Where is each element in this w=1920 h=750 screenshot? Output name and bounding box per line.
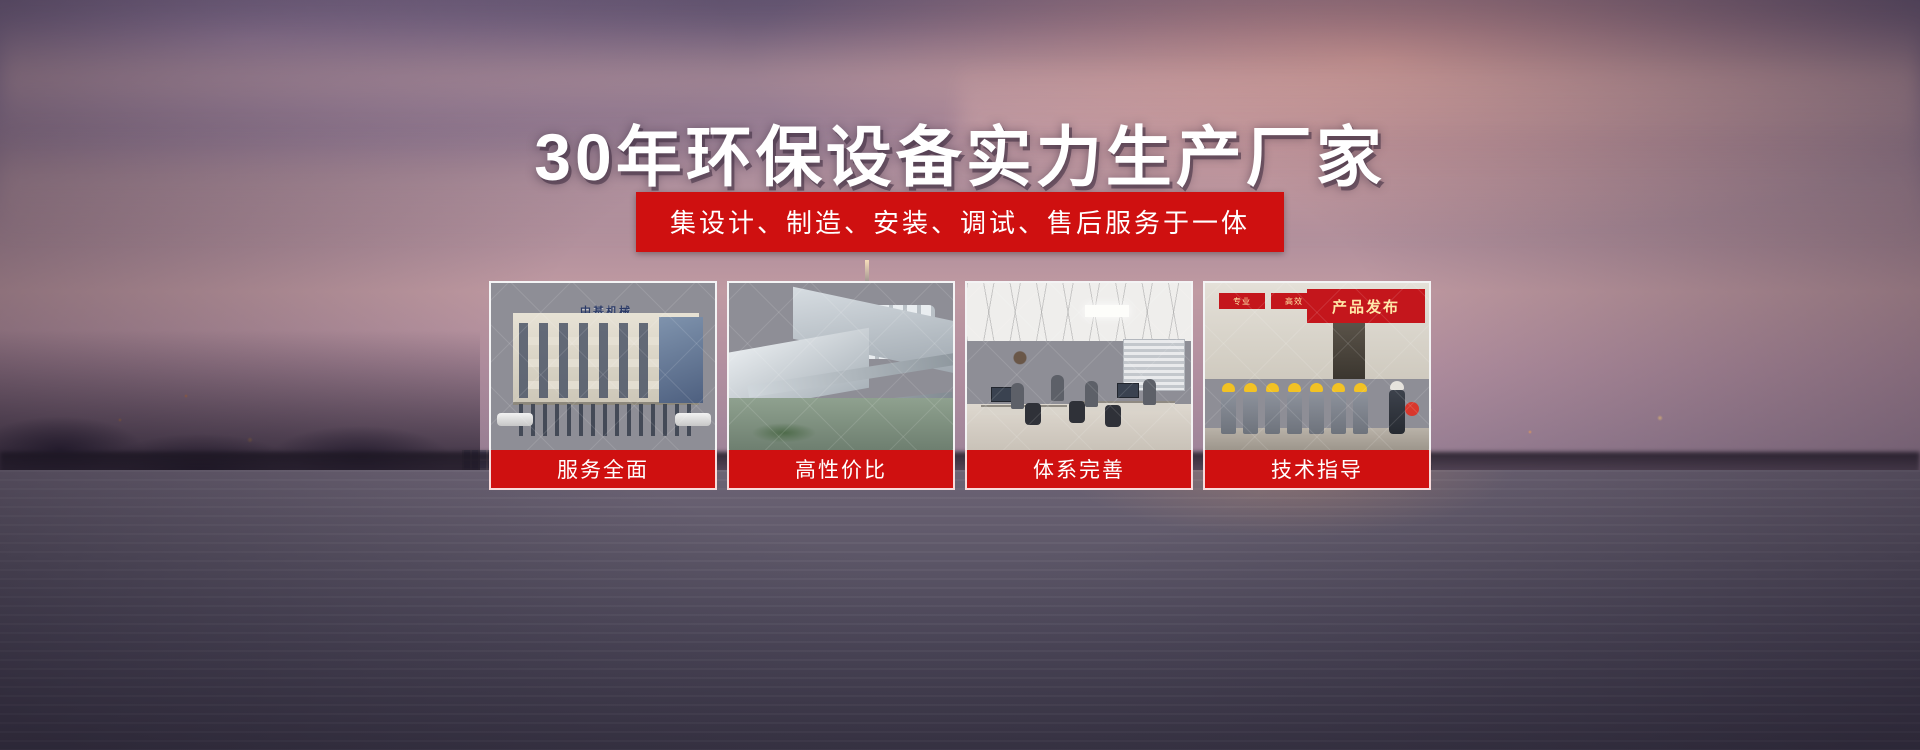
office-desk xyxy=(981,405,1067,415)
page-title: 30年环保设备实力生产厂家 xyxy=(0,104,1920,200)
equipment-reel xyxy=(1405,402,1419,416)
card-caption: 服务全面 xyxy=(489,450,717,490)
feature-card[interactable]: 专业 高效 产品发布 技术指导 xyxy=(1203,281,1431,490)
office-chair xyxy=(1105,405,1121,427)
feature-card[interactable]: 高性价比 xyxy=(727,281,955,490)
vegetation xyxy=(739,416,829,444)
worker-hardhat xyxy=(1221,392,1236,434)
card-caption: 体系完善 xyxy=(965,450,1193,490)
office-worker xyxy=(1011,383,1024,409)
wall-decal xyxy=(1005,349,1035,371)
office-worker xyxy=(1051,375,1064,401)
worker-hardhat xyxy=(1287,392,1302,434)
card-caption: 技术指导 xyxy=(1203,450,1431,490)
glass-wing xyxy=(659,317,703,403)
worker-hardhat xyxy=(1331,392,1346,434)
office-worker xyxy=(1085,381,1098,407)
feature-card[interactable]: 中基机械 服务全面 xyxy=(489,281,717,490)
parked-car xyxy=(497,413,533,426)
monitor xyxy=(991,387,1013,402)
feature-card-list: 中基机械 服务全面 高性价比 xyxy=(489,281,1431,490)
monitor xyxy=(1117,383,1139,398)
feature-card[interactable]: 体系完善 xyxy=(965,281,1193,490)
wall-slogan-banner: 专业 xyxy=(1219,293,1265,309)
office-chair xyxy=(1025,403,1041,425)
card-photo-plant-aerial xyxy=(727,281,955,450)
workshop-door xyxy=(1333,323,1365,379)
ceiling-light xyxy=(1085,305,1129,317)
instructor xyxy=(1389,390,1405,434)
parked-car xyxy=(675,413,711,426)
office-chair xyxy=(1069,401,1085,423)
worker-hardhat xyxy=(1309,392,1324,434)
worker-hardhat xyxy=(1243,392,1258,434)
worker-hardhat xyxy=(1265,392,1280,434)
subtitle-ribbon: 集设计、制造、安装、调试、售后服务于一体 xyxy=(636,192,1284,252)
card-photo-office xyxy=(965,281,1193,450)
office-worker xyxy=(1143,379,1156,405)
staff-lineup xyxy=(519,404,691,436)
product-launch-banner: 产品发布 xyxy=(1307,289,1425,323)
card-photo-headquarters: 中基机械 xyxy=(489,281,717,450)
card-photo-workshop-training: 专业 高效 产品发布 xyxy=(1203,281,1431,450)
worker-hardhat xyxy=(1353,392,1368,434)
office-ceiling xyxy=(967,283,1191,341)
card-caption: 高性价比 xyxy=(727,450,955,490)
hero-banner: 30年环保设备实力生产厂家 集设计、制造、安装、调试、售后服务于一体 中基机械 … xyxy=(0,0,1920,750)
